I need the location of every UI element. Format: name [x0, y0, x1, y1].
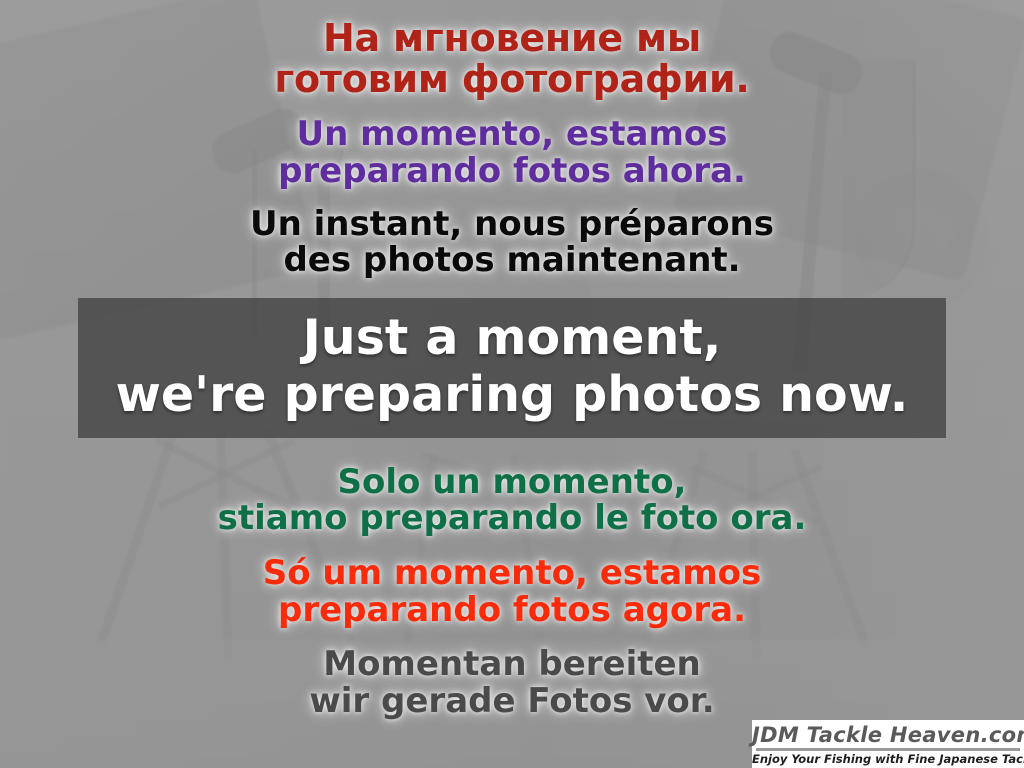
loading-message-portuguese-line1: Só um momento, estamos	[0, 555, 1024, 592]
loading-message-english-line2: we're preparing photos now.	[78, 367, 946, 424]
loading-message-english-line1: Just a moment,	[78, 310, 946, 367]
loading-placeholder-image: На мгновение мы готовим фотографии. Un m…	[0, 0, 1024, 768]
loading-message-english-banner: Just a moment, we're preparing photos no…	[78, 298, 946, 438]
loading-message-spanish: Un momento, estamos preparando fotos aho…	[0, 116, 1024, 189]
loading-message-spanish-line1: Un momento, estamos	[0, 116, 1024, 153]
store-watermark-title: JDM Tackle Heaven.com	[752, 724, 1024, 746]
loading-message-italian: Solo un momento, stiamo preparando le fo…	[0, 464, 1024, 537]
loading-message-russian: На мгновение мы готовим фотографии.	[0, 18, 1024, 100]
loading-message-german-line2: wir gerade Fotos vor.	[0, 683, 1024, 720]
loading-message-french: Un instant, nous préparons des photos ma…	[0, 206, 1024, 279]
loading-message-russian-line2: готовим фотографии.	[0, 59, 1024, 100]
loading-message-portuguese: Só um momento, estamos preparando fotos …	[0, 555, 1024, 628]
loading-message-german-line1: Momentan bereiten	[0, 646, 1024, 683]
store-watermark-tagline: Enjoy Your Fishing with Fine Japanese Ta…	[752, 753, 1024, 766]
loading-message-spanish-line2: preparando fotos ahora.	[0, 153, 1024, 190]
loading-message-italian-line1: Solo un momento,	[0, 464, 1024, 501]
loading-message-french-line1: Un instant, nous préparons	[0, 206, 1024, 243]
loading-message-russian-line1: На мгновение мы	[0, 18, 1024, 59]
loading-message-portuguese-line2: preparando fotos agora.	[0, 592, 1024, 629]
store-watermark-divider	[756, 748, 1020, 751]
loading-message-italian-line2: stiamo preparando le foto ora.	[0, 500, 1024, 537]
loading-message-french-line2: des photos maintenant.	[0, 242, 1024, 279]
store-watermark: JDM Tackle Heaven.com Enjoy Your Fishing…	[752, 720, 1024, 768]
loading-message-stack: На мгновение мы готовим фотографии. Un m…	[0, 0, 1024, 768]
loading-message-german: Momentan bereiten wir gerade Fotos vor.	[0, 646, 1024, 719]
